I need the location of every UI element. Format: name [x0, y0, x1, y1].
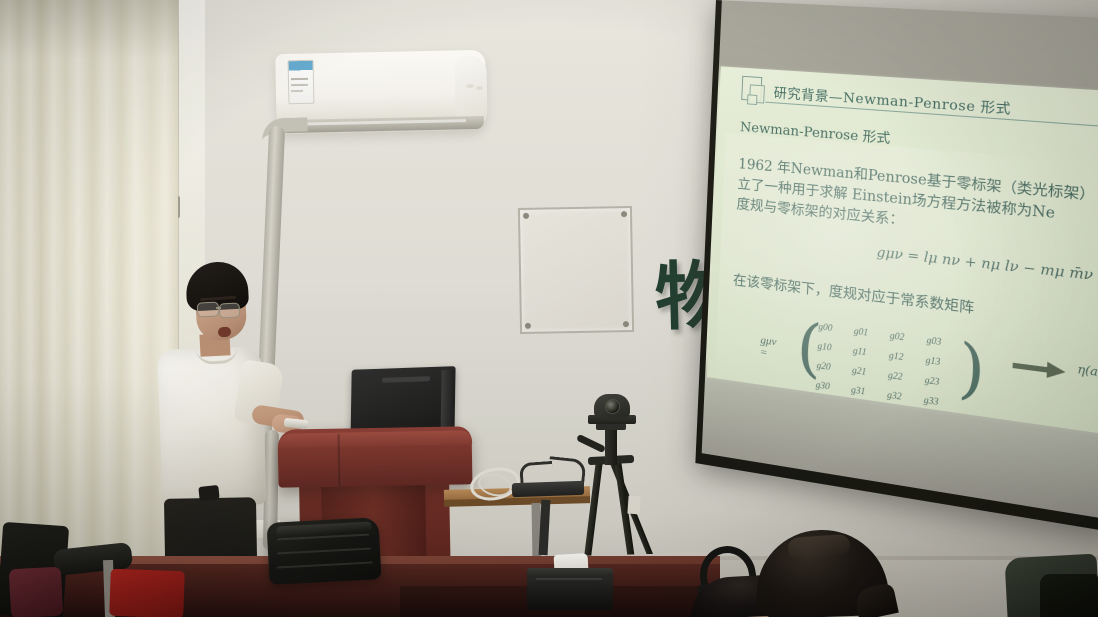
- matrix-cell: g02: [890, 330, 927, 345]
- matrix-cell: g22: [888, 370, 925, 385]
- chair-rib: [277, 561, 373, 568]
- slide-title: 研究背景—Newman-Penrose 形式: [773, 82, 1011, 118]
- chair-rib: [277, 548, 371, 555]
- tissue-box-top: [527, 568, 613, 577]
- slide-paragraph-line: 在该零标架下，度规对应于常系数矩阵: [733, 268, 975, 317]
- panel-screw: [525, 323, 531, 329]
- slide-subtitle: Newman-Penrose 形式: [740, 116, 891, 147]
- matrix-cell: g31: [851, 384, 887, 399]
- slide-equation-eta: η(a)(b) = η: [1077, 362, 1098, 385]
- air-conditioner-indicator: [466, 84, 474, 88]
- matrix-label: gμν =: [760, 334, 777, 360]
- label-line: [291, 84, 308, 86]
- matrix-cell: g30: [816, 379, 852, 394]
- presentation-slide: 研究背景—Newman-Penrose 形式 Newman-Penrose 形式…: [707, 66, 1098, 435]
- matrix-cell: g10: [817, 341, 853, 356]
- panel-screw: [623, 321, 629, 327]
- matrix-cell: g12: [889, 350, 926, 365]
- matrix-cell: g11: [853, 345, 890, 360]
- curtain-top-shadow: [0, 0, 178, 60]
- matrix-paren-right-icon: ): [957, 335, 987, 404]
- bag: [9, 567, 63, 617]
- matrix-cell: g01: [854, 326, 891, 341]
- wall-access-panel: [518, 206, 634, 334]
- slide-decoration-square-icon: [747, 94, 757, 105]
- air-conditioner-indicator: [476, 86, 483, 90]
- panel-screw: [523, 213, 529, 219]
- presenter-belt: [198, 485, 219, 501]
- camera-lens-icon: [605, 399, 620, 414]
- glasses-lens-right-icon: [219, 302, 241, 318]
- red-chair[interactable]: [109, 569, 185, 617]
- label-line: [291, 78, 308, 80]
- chair-right-shadow: [1040, 574, 1098, 617]
- av-equipment: [512, 481, 584, 498]
- camera-mount-plate: [596, 423, 626, 430]
- panel-screw: [621, 211, 627, 217]
- glasses-lens-left-icon: [197, 301, 220, 317]
- label-line: [291, 90, 303, 92]
- matrix-cell: g33: [924, 394, 962, 410]
- tripod-center-column: [605, 429, 617, 465]
- projection-screen: 研究背景—Newman-Penrose 形式 Newman-Penrose 形式…: [695, 0, 1098, 532]
- matrix-cell: g00: [818, 321, 854, 336]
- glasses-bridge: [216, 307, 221, 309]
- slide-equation-metric: gμν = lμ nν + nμ lν − mμ m̄ν −: [876, 245, 1098, 286]
- right-arrow-icon: [1012, 357, 1066, 380]
- matrix-cell: g20: [816, 360, 852, 375]
- matrix-cell: g32: [887, 389, 924, 405]
- air-conditioner-label: [288, 60, 315, 105]
- tripod-tag: [627, 496, 640, 515]
- matrix-cell: g21: [852, 365, 889, 380]
- audience-hair-highlight: [787, 534, 850, 560]
- lecture-room-photo: 物 研究背景—Newman-Penrose 形式 Newman-Penrose …: [0, 0, 1098, 617]
- tissue-box-highlight: [536, 578, 602, 580]
